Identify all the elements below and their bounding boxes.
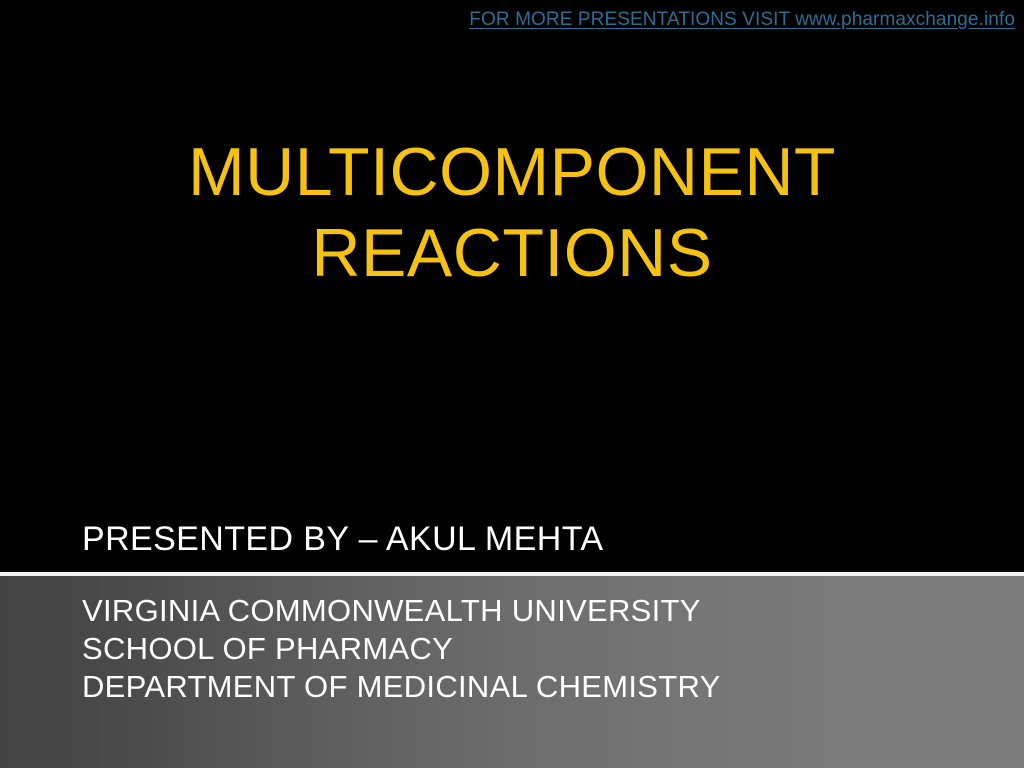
pharmaxchange-link[interactable]: FOR MORE PRESENTATIONS VISIT www.pharmax… (469, 9, 1015, 31)
banner-region: FOR MORE PRESENTATIONS VISIT www.pharmax… (0, 0, 1024, 42)
presentation-slide: FOR MORE PRESENTATIONS VISIT www.pharmax… (0, 0, 1024, 768)
presenter-credit: PRESENTED BY – AKUL MEHTA (82, 518, 603, 560)
slide-title: MULTICOMPONENT REACTIONS (0, 132, 1024, 294)
affiliation-text-block: VIRGINIA COMMONWEALTH UNIVERSITY SCHOOL … (82, 592, 721, 706)
title-line-2: REACTIONS (0, 213, 1024, 294)
affiliation-line-3: DEPARTMENT OF MEDICINAL CHEMISTRY (82, 668, 721, 706)
title-line-1: MULTICOMPONENT (0, 132, 1024, 213)
affiliation-line-1: VIRGINIA COMMONWEALTH UNIVERSITY (82, 592, 721, 630)
affiliation-line-2: SCHOOL OF PHARMACY (82, 630, 721, 668)
affiliation-panel: VIRGINIA COMMONWEALTH UNIVERSITY SCHOOL … (0, 576, 1024, 768)
